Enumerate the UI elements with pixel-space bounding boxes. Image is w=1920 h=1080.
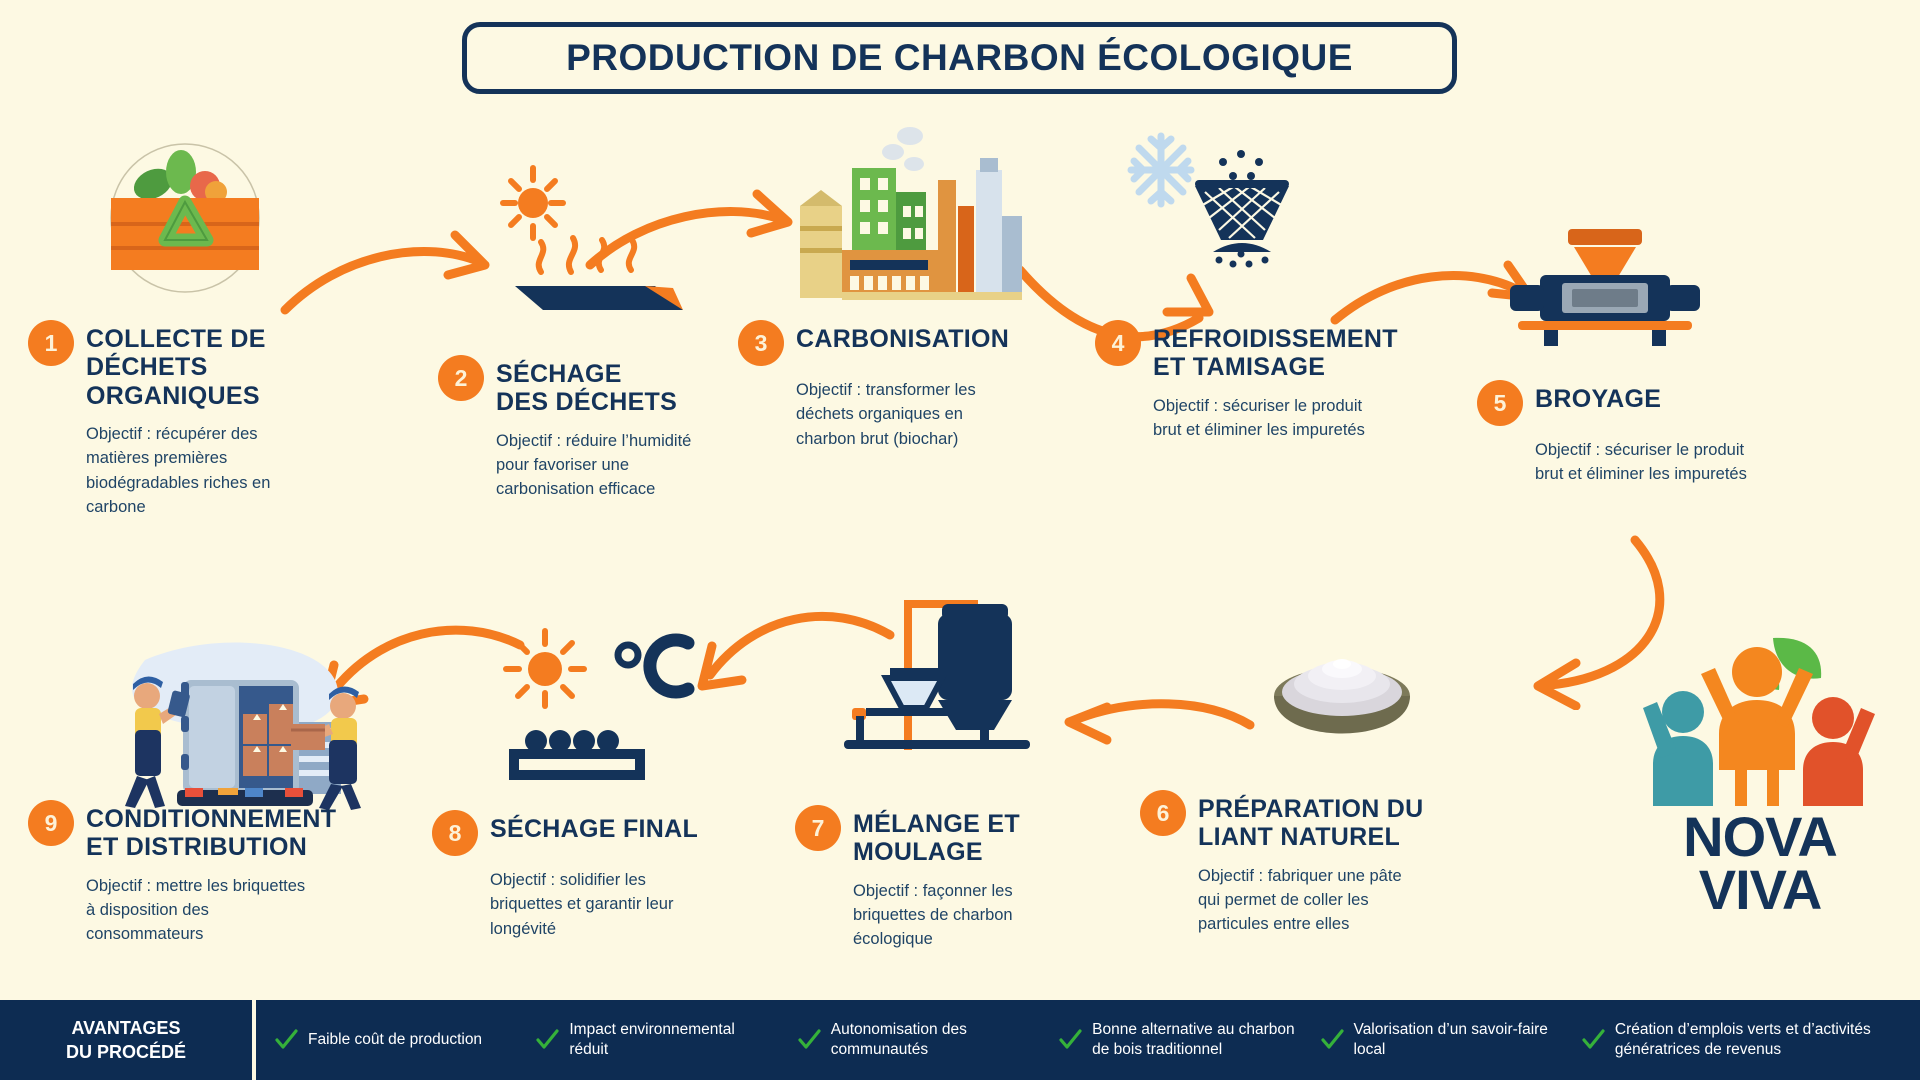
check-icon xyxy=(1057,1027,1083,1053)
step-4-description: Objectif : sécuriser le produit brut et … xyxy=(1153,394,1383,443)
advantage-text-5: Valorisation d’un savoir-faire local xyxy=(1354,1020,1558,1061)
step-3-description: Objectif : transformer les déchets organ… xyxy=(796,378,1024,451)
step-5: 5 BROYAGE Objectif : sécuriser le produi… xyxy=(1477,380,1767,487)
step-3-title: CARBONISATION xyxy=(796,320,1009,353)
check-icon xyxy=(796,1027,822,1053)
step-4-title: REFROIDISSEMENT ET TAMISAGE xyxy=(1153,320,1398,382)
step-9-number: 9 xyxy=(28,800,74,846)
step-8-number: 8 xyxy=(432,810,478,856)
step-5-description: Objectif : sécuriser le produit brut et … xyxy=(1535,438,1763,487)
step-8-header: 8 SÉCHAGE FINAL xyxy=(432,810,732,856)
step-4-number: 4 xyxy=(1095,320,1141,366)
paste-bowl-icon xyxy=(1250,640,1435,770)
arrow-1-to-2-icon xyxy=(280,215,500,335)
step-7-title: MÉLANGE ET MOULAGE xyxy=(853,805,1020,867)
advantage-item-6: Création d’emplois verts et d’activités … xyxy=(1569,1020,1914,1061)
step-6: 6 PRÉPARATION DU LIANT NATUREL Objectif … xyxy=(1140,790,1440,937)
step-7-header: 7 MÉLANGE ET MOULAGE xyxy=(795,805,1085,867)
step-4: 4 REFROIDISSEMENT ET TAMISAGE Objectif :… xyxy=(1095,320,1395,442)
step-9-header: 9 CONDITIONNEMENT ET DISTRIBUTION xyxy=(28,800,358,862)
step-1-header: 1 COLLECTE DE DÉCHETS ORGANIQUES xyxy=(28,320,328,410)
advantages-label: AVANTAGES DU PROCÉDÉ xyxy=(0,1000,256,1080)
step-4-header: 4 REFROIDISSEMENT ET TAMISAGE xyxy=(1095,320,1395,382)
step-2-description: Objectif : réduire l’humidité pour favor… xyxy=(496,429,726,502)
step-6-number: 6 xyxy=(1140,790,1186,836)
three-people-leaf-logo-icon xyxy=(1635,630,1885,810)
sun-drying-icon xyxy=(495,160,695,310)
step-5-title: BROYAGE xyxy=(1535,380,1661,413)
advantage-item-1: Faible coût de production xyxy=(262,1027,523,1053)
check-icon xyxy=(1319,1027,1345,1053)
step-9: 9 CONDITIONNEMENT ET DISTRIBUTION Object… xyxy=(28,800,358,947)
grinder-machine-icon xyxy=(1500,225,1710,355)
advantage-text-2: Impact environnemental réduit xyxy=(569,1020,773,1061)
factory-icon xyxy=(790,120,1030,300)
step-8: 8 SÉCHAGE FINAL Objectif : solidifier le… xyxy=(432,810,732,941)
advantage-text-1: Faible coût de production xyxy=(308,1030,482,1050)
step-9-title: CONDITIONNEMENT ET DISTRIBUTION xyxy=(86,800,336,862)
advantage-item-3: Autonomisation des communautés xyxy=(785,1020,1046,1061)
step-5-header: 5 BROYAGE xyxy=(1477,380,1767,426)
mixing-tank-icon xyxy=(830,590,1050,780)
page-title-text: PRODUCTION DE CHARBON ÉCOLOGIQUE xyxy=(566,37,1353,79)
infographic-canvas: PRODUCTION DE CHARBON ÉCOLOGIQUE xyxy=(0,0,1920,1080)
step-5-number: 5 xyxy=(1477,380,1523,426)
step-2-header: 2 SÉCHAGE DES DÉCHETS xyxy=(438,355,718,417)
sieve-snowflake-icon xyxy=(1125,130,1310,290)
advantage-item-4: Bonne alternative au charbon de bois tra… xyxy=(1046,1020,1307,1061)
advantages-label-line-1: AVANTAGES xyxy=(71,1016,180,1040)
advantage-text-4: Bonne alternative au charbon de bois tra… xyxy=(1092,1020,1296,1061)
arrow-6-to-7-icon xyxy=(1055,690,1255,760)
step-3: 3 CARBONISATION Objectif : transformer l… xyxy=(738,320,1038,451)
page-title: PRODUCTION DE CHARBON ÉCOLOGIQUE xyxy=(462,22,1457,94)
advantage-item-5: Valorisation d’un savoir-faire local xyxy=(1308,1020,1569,1061)
step-1-number: 1 xyxy=(28,320,74,366)
step-7-description: Objectif : façonner les briquettes de ch… xyxy=(853,879,1071,952)
brand-logo: NOVA VIVA xyxy=(1615,630,1905,916)
step-6-header: 6 PRÉPARATION DU LIANT NATUREL xyxy=(1140,790,1440,852)
logo-line-2: VIVA xyxy=(1615,863,1905,916)
step-3-header: 3 CARBONISATION xyxy=(738,320,1038,366)
step-7-number: 7 xyxy=(795,805,841,851)
step-2-title: SÉCHAGE DES DÉCHETS xyxy=(496,355,677,417)
advantages-label-line-2: DU PROCÉDÉ xyxy=(66,1040,186,1064)
advantage-text-6: Création d’emplois verts et d’activités … xyxy=(1615,1020,1903,1061)
step-1-description: Objectif : récupérer des matières premiè… xyxy=(86,422,322,520)
advantages-footer: AVANTAGES DU PROCÉDÉ Faible coût de prod… xyxy=(0,1000,1920,1080)
advantage-item-2: Impact environnemental réduit xyxy=(523,1020,784,1061)
step-9-description: Objectif : mettre les briquettes à dispo… xyxy=(86,874,311,947)
advantage-text-3: Autonomisation des communautés xyxy=(831,1020,1035,1061)
step-1-title: COLLECTE DE DÉCHETS ORGANIQUES xyxy=(86,320,266,410)
step-8-title: SÉCHAGE FINAL xyxy=(490,810,698,843)
step-7: 7 MÉLANGE ET MOULAGE Objectif : façonner… xyxy=(795,805,1085,952)
logo-line-1: NOVA xyxy=(1615,810,1905,863)
check-icon xyxy=(273,1027,299,1053)
step-8-description: Objectif : solidifier les briquettes et … xyxy=(490,868,718,941)
check-icon xyxy=(534,1027,560,1053)
step-2: 2 SÉCHAGE DES DÉCHETS Objectif : réduire… xyxy=(438,355,718,502)
step-3-number: 3 xyxy=(738,320,784,366)
step-6-title: PRÉPARATION DU LIANT NATUREL xyxy=(1198,790,1424,852)
organic-waste-crate-icon xyxy=(95,140,275,300)
sun-thermometer-icon xyxy=(500,625,700,795)
step-1: 1 COLLECTE DE DÉCHETS ORGANIQUES Objecti… xyxy=(28,320,328,519)
delivery-truck-icon xyxy=(85,630,365,810)
check-icon xyxy=(1580,1027,1606,1053)
step-6-description: Objectif : fabriquer une pâte qui permet… xyxy=(1198,864,1428,937)
advantages-list: Faible coût de production Impact environ… xyxy=(256,1000,1920,1080)
step-2-number: 2 xyxy=(438,355,484,401)
